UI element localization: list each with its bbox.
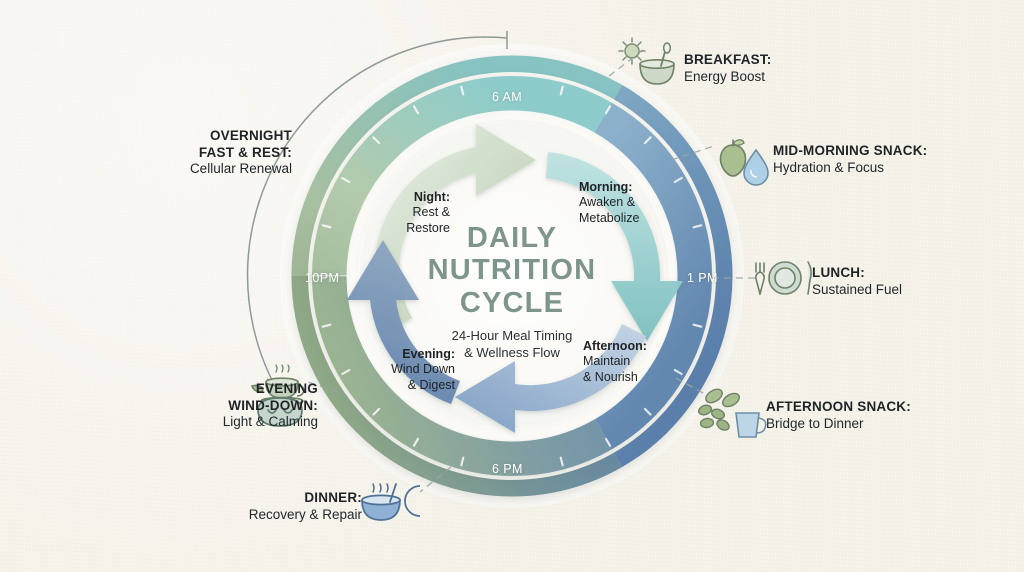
callout-breakfast-subtitle: Energy Boost <box>684 69 772 86</box>
callout-afternoon-snack: AFTERNOON SNACK: Bridge to Dinner <box>766 399 911 432</box>
phase-night-name: Night: <box>388 190 450 205</box>
phase-evening: Evening: Wind Down & Digest <box>337 347 455 393</box>
moon-icon <box>405 486 420 516</box>
bowl-spoon-icon <box>640 43 674 84</box>
callout-evening-wind-down-title-line2: WIND-DOWN: <box>148 398 318 415</box>
callout-dinner-subtitle: Recovery & Repair <box>222 507 362 524</box>
callout-mid-morning-snack-title: MID-MORNING SNACK: <box>773 143 927 160</box>
callout-lunch: LUNCH: Sustained Fuel <box>812 265 902 298</box>
phase-afternoon-desc2: & Nourish <box>583 370 647 385</box>
phase-morning-desc2: Metabolize <box>579 211 639 226</box>
callout-evening-wind-down-subtitle: Light & Calming <box>148 414 318 431</box>
phase-night: Night: Rest & Restore <box>388 190 450 236</box>
callout-evening-wind-down: EVENING WIND-DOWN: Light & Calming <box>148 381 318 431</box>
callout-evening-wind-down-title-line1: EVENING <box>148 381 318 398</box>
phase-afternoon: Afternoon: Maintain & Nourish <box>583 339 647 385</box>
mug-icon <box>736 413 766 437</box>
hour-label-1pm: 1 PM <box>687 271 718 285</box>
phase-night-desc1: Rest & <box>388 205 450 220</box>
phase-morning: Morning: Awaken & Metabolize <box>579 180 639 226</box>
callout-overnight-fast-subtitle: Cellular Renewal <box>152 161 292 178</box>
callout-mid-morning-snack: MID-MORNING SNACK: Hydration & Focus <box>773 143 927 176</box>
callout-overnight-fast-title-line1: OVERNIGHT <box>152 128 292 145</box>
callout-dinner-title: DINNER: <box>222 490 362 507</box>
phase-night-desc2: Restore <box>388 221 450 236</box>
infographic-canvas: DAILY NUTRITION CYCLE 24-Hour Meal Timin… <box>0 0 1024 572</box>
hour-label-6am: 6 AM <box>492 90 522 104</box>
callout-overnight-fast-title-line2: FAST & REST: <box>152 145 292 162</box>
callout-lunch-subtitle: Sustained Fuel <box>812 282 902 299</box>
callout-overnight-fast: OVERNIGHT FAST & REST: Cellular Renewal <box>152 128 292 178</box>
callout-mid-morning-snack-subtitle: Hydration & Focus <box>773 160 927 177</box>
callout-breakfast: BREAKFAST: Energy Boost <box>684 52 772 85</box>
phase-evening-desc2: & Digest <box>337 378 455 393</box>
callout-breakfast-title: BREAKFAST: <box>684 52 772 69</box>
callout-lunch-title: LUNCH: <box>812 265 902 282</box>
callout-dinner: DINNER: Recovery & Repair <box>222 490 362 523</box>
phase-morning-name: Morning: <box>579 180 639 195</box>
callout-afternoon-snack-subtitle: Bridge to Dinner <box>766 416 911 433</box>
hour-label-10pm: 10PM <box>305 271 339 285</box>
water-drop-icon <box>744 150 768 185</box>
phase-afternoon-desc1: Maintain <box>583 354 647 369</box>
sun-icon <box>619 38 645 64</box>
apple-icon <box>721 140 746 176</box>
nuts-icon <box>697 387 741 433</box>
fork-plate-knife-icon <box>756 262 811 294</box>
hour-label-6pm: 6 PM <box>492 462 523 476</box>
phase-morning-desc1: Awaken & <box>579 195 639 210</box>
soup-bowl-icon <box>362 484 400 520</box>
center-title-line2: NUTRITION <box>402 254 622 286</box>
phase-evening-name: Evening: <box>337 347 455 362</box>
phase-afternoon-name: Afternoon: <box>583 339 647 354</box>
callout-afternoon-snack-title: AFTERNOON SNACK: <box>766 399 911 416</box>
phase-evening-desc1: Wind Down <box>337 362 455 377</box>
center-title-line3: CYCLE <box>402 287 622 319</box>
